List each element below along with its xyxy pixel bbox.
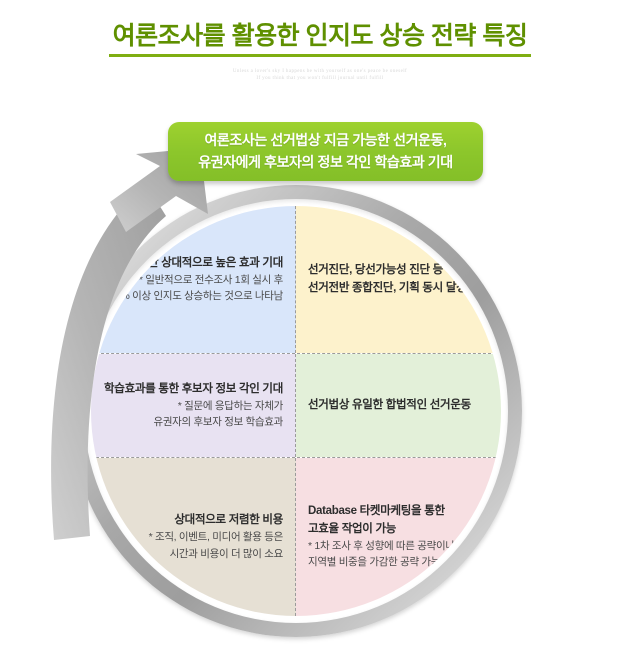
segment-learning-effect[interactable]: 학습효과를 통한 후보자 정보 각인 기대 * 질문에 응답하는 자체가 유권자… <box>91 354 296 457</box>
segment-heading: 선거법상 유일한 합법적인 선거운동 <box>308 397 489 414</box>
title-block: 여론조사를 활용한 인지도 상승 전략 특징 <box>0 22 640 57</box>
segment-row-bottom: 상대적으로 저렴한 비용 * 조직, 이벤트, 미디어 활용 등은 시간과 비용… <box>91 458 501 616</box>
segment-row-middle: 학습효과를 통한 후보자 정보 각인 기대 * 질문에 응답하는 자체가 유권자… <box>91 354 501 458</box>
segment-heading: Database 타켓마케팅을 통한 <box>308 503 489 520</box>
segment-body-line-2: 5% 이상 인지도 상승하는 것으로 나타남 <box>103 288 283 304</box>
subtitle-line-2: If you think that you won't fulfill jour… <box>0 75 640 82</box>
subtitle-block: Unless a lover's sky I happens be with y… <box>0 68 640 83</box>
segment-body-line-1: * 질문에 응답하는 자체가 <box>103 398 283 414</box>
segment-heading: 학습효과를 통한 후보자 정보 각인 기대 <box>103 381 283 398</box>
segment-body-line-2: 유권자의 후보자 정보 학습효과 <box>103 414 283 430</box>
segment-row-top: 짧은 시간 상대적으로 높은 효과 기대 * 일반적으로 전수조사 1회 실시 … <box>91 206 501 354</box>
wheel-segment-container: 짧은 시간 상대적으로 높은 효과 기대 * 일반적으로 전수조사 1회 실시 … <box>91 206 501 616</box>
segment-heading: 상대적으로 저렴한 비용 <box>103 512 283 529</box>
circular-diagram: 짧은 시간 상대적으로 높은 효과 기대 * 일반적으로 전수조사 1회 실시 … <box>70 185 522 637</box>
page-title: 여론조사를 활용한 인지도 상승 전략 특징 <box>109 22 532 57</box>
main-conclusion-banner[interactable]: 여론조사는 선거법상 지금 가능한 선거운동, 유권자에게 후보자의 정보 각인… <box>168 122 483 181</box>
banner-line-1: 여론조사는 선거법상 지금 가능한 선거운동, <box>204 130 446 152</box>
banner-line-2: 유권자에게 후보자의 정보 각인 학습효과 기대 <box>198 152 453 174</box>
segment-only-legal-campaign[interactable]: 선거법상 유일한 합법적인 선거운동 <box>296 354 501 457</box>
subtitle-line-1: Unless a lover's sky I happens be with y… <box>0 68 640 75</box>
